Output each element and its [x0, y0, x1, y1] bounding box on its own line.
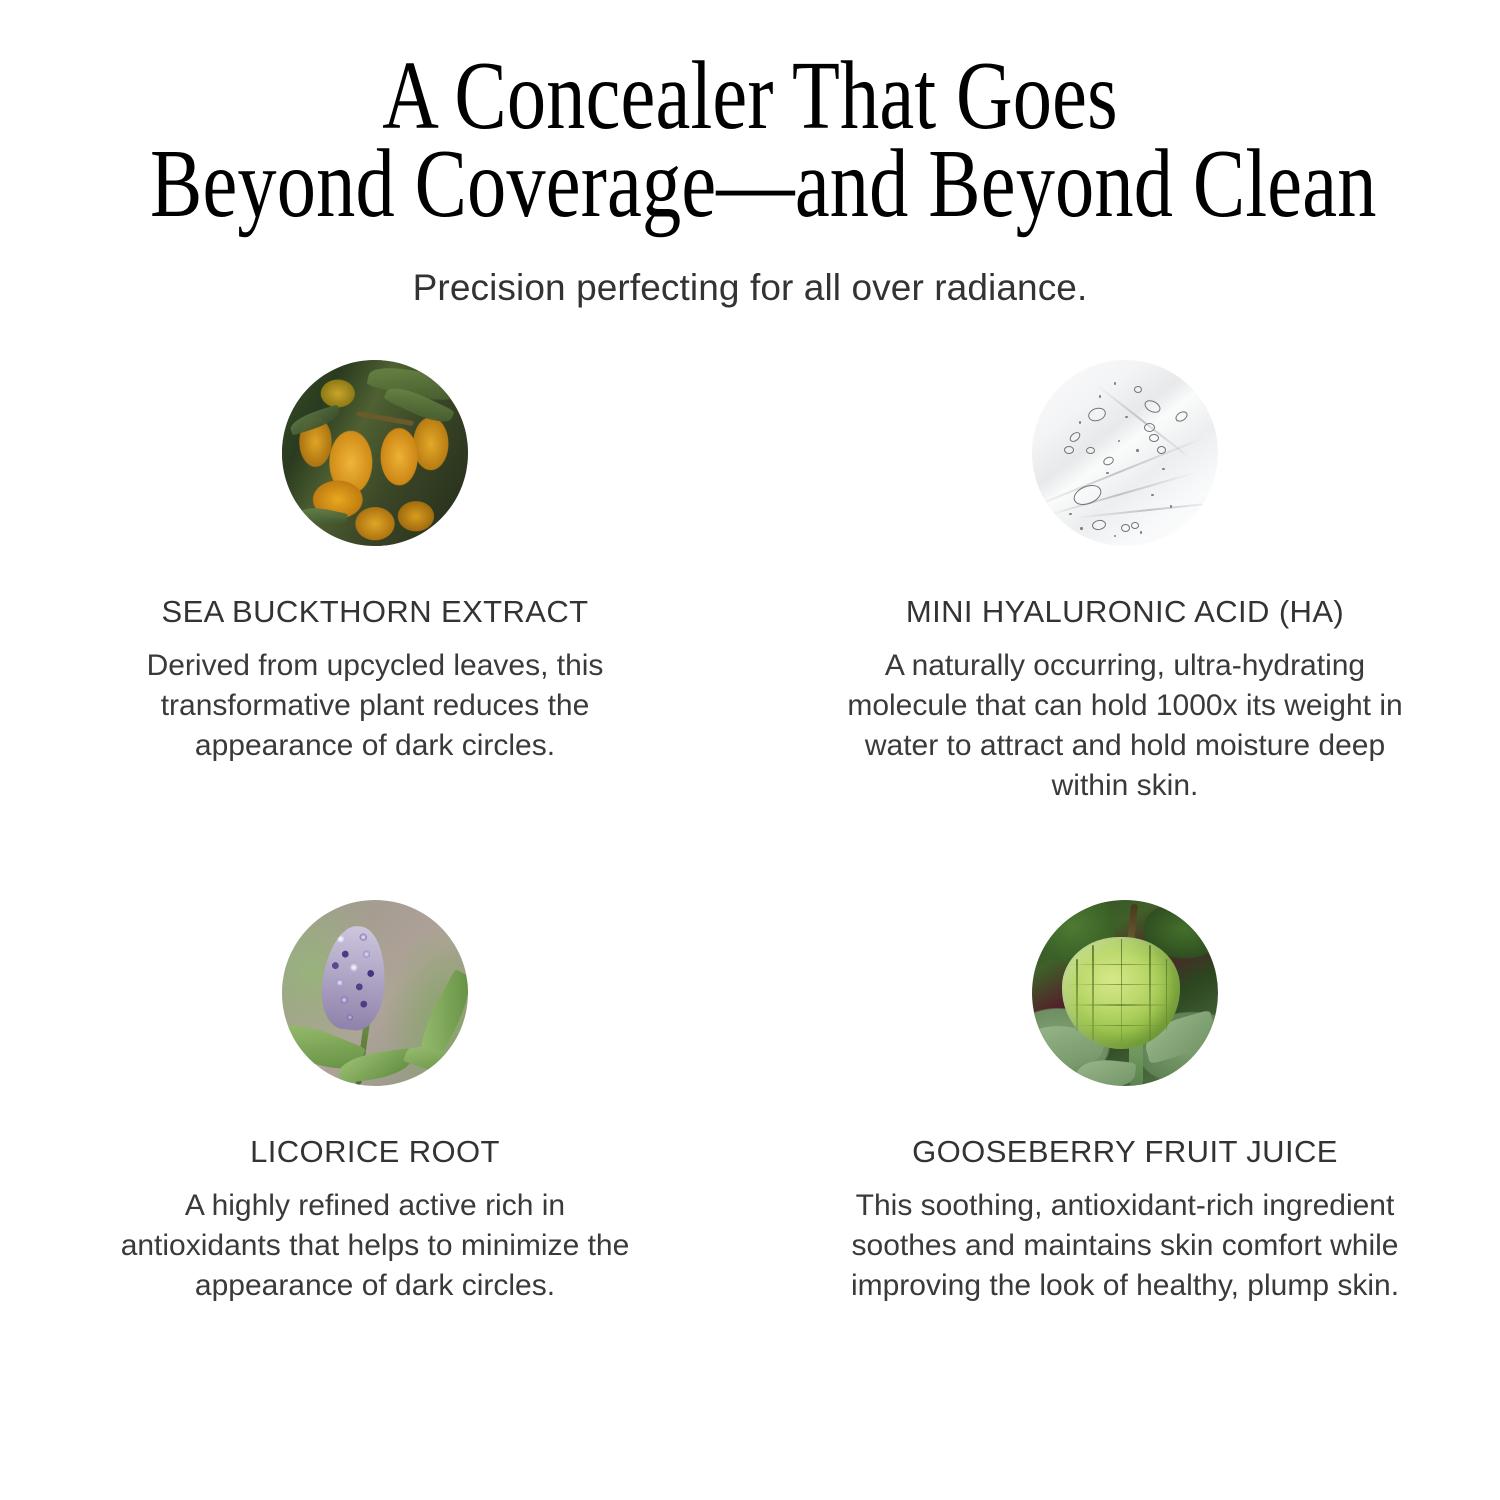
ingredient-description: Derived from upcycled leaves, this trans…	[115, 646, 635, 766]
gel-bubble	[1134, 386, 1142, 393]
gel-speck	[1069, 513, 1072, 516]
gel-speck	[1106, 472, 1109, 475]
gel-speck	[1170, 505, 1173, 508]
ingredient-card-licorice-root: LICORICE ROOT A highly refined active ri…	[0, 900, 750, 1440]
husk-vein	[1076, 959, 1078, 1031]
gel-bubble	[1174, 409, 1190, 424]
husk-vein	[1076, 1025, 1166, 1026]
gel-bubble	[1121, 524, 1130, 532]
gel-fold	[1032, 436, 1205, 509]
husk-vein	[1149, 945, 1151, 1041]
ingredient-title: SEA BUCKTHORN EXTRACT	[162, 594, 589, 630]
gel-speck	[1099, 395, 1102, 398]
gel-speck	[1136, 449, 1139, 452]
gel-speck	[1140, 531, 1143, 534]
gel-fold	[1074, 501, 1218, 519]
gel-bubble	[1064, 446, 1074, 454]
ingredient-title: LICORICE ROOT	[250, 1134, 500, 1170]
leaf-shape	[300, 504, 348, 527]
gel-speck	[1079, 421, 1082, 424]
page-title: A Concealer That Goes Beyond Coverage—an…	[150, 52, 1350, 228]
ingredient-card-gooseberry: GOOSEBERRY FRUIT JUICE This soothing, an…	[750, 900, 1500, 1440]
ingredient-title: GOOSEBERRY FRUIT JUICE	[912, 1134, 1338, 1170]
gel-speck	[1162, 468, 1165, 471]
branch-shape	[356, 411, 414, 426]
gel-fold	[1096, 385, 1192, 460]
gel-bubble	[1149, 434, 1159, 442]
ingredient-grid: SEA BUCKTHORN EXTRACT Derived from upcyc…	[0, 360, 1500, 1440]
gel-speck	[1125, 416, 1128, 419]
gooseberry-thumbnail	[1032, 900, 1218, 1086]
leaf-shape	[288, 404, 342, 435]
ingredient-description: A highly refined active rich in antioxid…	[115, 1186, 635, 1306]
page-title-line-1: A Concealer That Goes	[150, 52, 1350, 140]
licorice-root-thumbnail	[282, 900, 468, 1086]
ingredient-title: MINI HYALURONIC ACID (HA)	[906, 594, 1344, 630]
gel-bubble	[1086, 447, 1095, 454]
gel-speck	[1114, 382, 1117, 385]
gel-bubble	[1091, 519, 1107, 531]
gel-speck	[1118, 440, 1121, 443]
gooseberry-fruit-husk-photo	[1032, 900, 1218, 1086]
husk-vein	[1092, 945, 1094, 1041]
gel-bubble	[1086, 406, 1107, 424]
flower-spike	[318, 923, 391, 1033]
ingredient-benefits-page: A Concealer That Goes Beyond Coverage—an…	[0, 0, 1500, 1500]
gel-speck	[1114, 535, 1117, 538]
gel-bubble	[1157, 446, 1166, 454]
licorice-root-flower-photo	[282, 900, 468, 1086]
page-header: A Concealer That Goes Beyond Coverage—an…	[0, 52, 1500, 310]
gel-bubble	[1144, 423, 1155, 432]
husk-vein	[1166, 959, 1168, 1031]
ingredient-description: This soothing, antioxidant-rich ingredie…	[845, 1186, 1405, 1306]
husk-vein	[1069, 1004, 1173, 1005]
page-title-line-2: Beyond Coverage—and Beyond Clean	[150, 140, 1350, 228]
gel-bubble	[1102, 455, 1115, 467]
hyaluronic-acid-gel-texture-photo	[1032, 360, 1218, 546]
husk-vein	[1121, 939, 1123, 1043]
gel-bubble	[1142, 398, 1162, 416]
gel-speck	[1151, 494, 1154, 497]
ingredient-card-hyaluronic-acid: MINI HYALURONIC ACID (HA) A naturally oc…	[750, 360, 1500, 900]
gel-speck	[1080, 527, 1083, 530]
sea-buckthorn-thumbnail	[282, 360, 468, 546]
ingredient-description: A naturally occurring, ultra-hydrating m…	[845, 646, 1405, 806]
sea-buckthorn-berries-photo	[282, 360, 468, 546]
ingredient-card-sea-buckthorn: SEA BUCKTHORN EXTRACT Derived from upcyc…	[0, 360, 750, 900]
gel-bubble	[1131, 522, 1139, 529]
hyaluronic-acid-thumbnail	[1032, 360, 1218, 546]
gel-bubble	[1068, 430, 1082, 444]
page-subtitle: Precision perfecting for all over radian…	[0, 266, 1500, 310]
